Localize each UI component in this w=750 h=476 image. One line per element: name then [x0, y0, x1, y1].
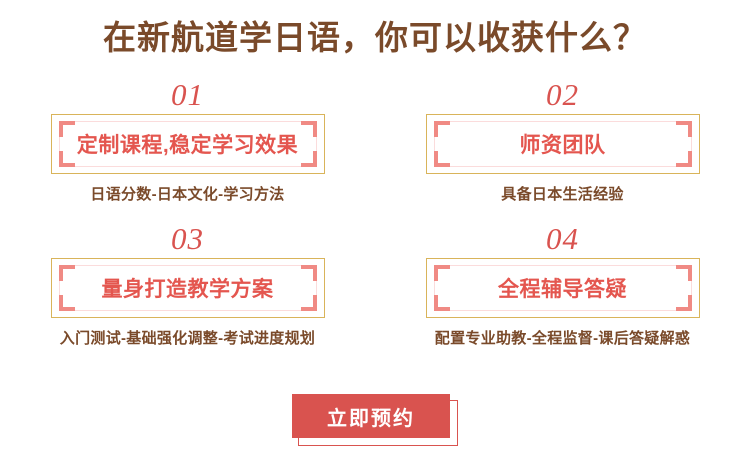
card-frame-03: 量身打造教学方案 — [51, 258, 325, 318]
benefits-row-2: 03 量身打造教学方案 入门测试-基础强化调整-考试进度规划 04 — [0, 222, 750, 348]
card-title-04: 全程辅导答疑 — [427, 259, 699, 317]
card-title-03: 量身打造教学方案 — [52, 259, 324, 317]
benefit-card-02: 02 师资团队 具备日本生活经验 — [375, 78, 750, 204]
card-number-04: 04 — [546, 222, 579, 256]
book-now-button[interactable]: 立即预约 — [292, 394, 450, 438]
card-caption-03: 入门测试-基础强化调整-考试进度规划 — [60, 327, 315, 348]
card-frame-01: 定制课程,稳定学习效果 — [51, 114, 325, 174]
card-caption-02: 具备日本生活经验 — [501, 183, 623, 204]
card-frame-04: 全程辅导答疑 — [426, 258, 700, 318]
benefit-card-04: 04 全程辅导答疑 配置专业助教-全程监督-课后答疑解惑 — [375, 222, 750, 348]
card-caption-04: 配置专业助教-全程监督-课后答疑解惑 — [435, 327, 690, 348]
benefits-grid: 01 定制课程,稳定学习效果 日语分数-日本文化-学习方法 02 — [0, 78, 750, 348]
card-number-03: 03 — [171, 222, 204, 256]
card-title-01: 定制课程,稳定学习效果 — [52, 115, 324, 173]
card-number-01: 01 — [171, 78, 204, 112]
card-caption-01: 日语分数-日本文化-学习方法 — [90, 183, 284, 204]
benefit-card-01: 01 定制课程,稳定学习效果 日语分数-日本文化-学习方法 — [0, 78, 375, 204]
cta-holder: 立即预约 — [292, 394, 458, 446]
card-number-02: 02 — [546, 78, 579, 112]
page-title: 在新航道学日语，你可以收获什么？ — [0, 16, 750, 60]
promo-page: 在新航道学日语，你可以收获什么？ 01 定制课程,稳定学习效果 日语分数-日本文… — [0, 0, 750, 476]
card-frame-02: 师资团队 — [426, 114, 700, 174]
benefit-card-03: 03 量身打造教学方案 入门测试-基础强化调整-考试进度规划 — [0, 222, 375, 348]
card-title-02: 师资团队 — [427, 115, 699, 173]
cta-area: 立即预约 — [0, 394, 750, 446]
benefits-row-1: 01 定制课程,稳定学习效果 日语分数-日本文化-学习方法 02 — [0, 78, 750, 204]
